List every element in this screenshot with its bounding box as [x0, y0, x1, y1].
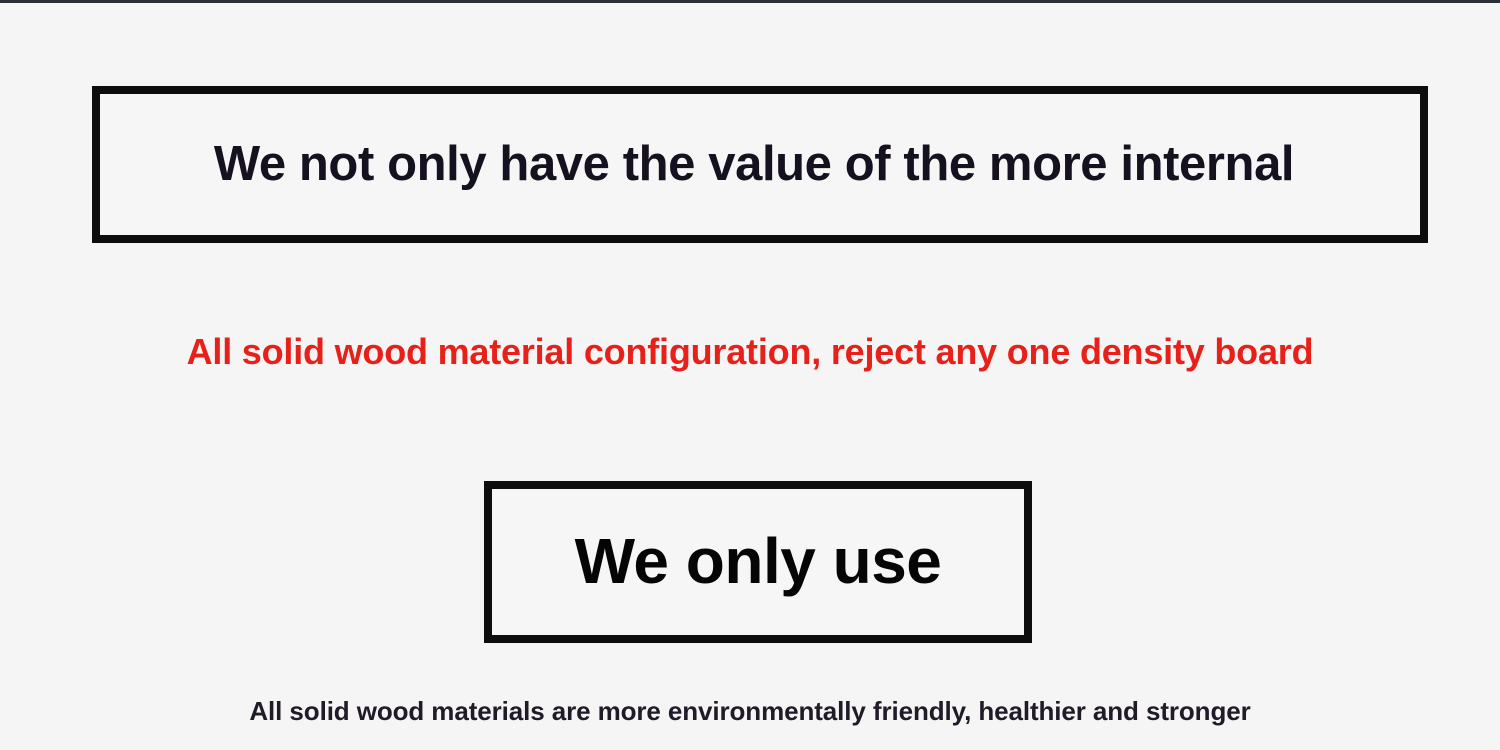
headline-text: We not only have the value of the more i…	[214, 139, 1294, 190]
subhead-box: We only use	[484, 481, 1032, 643]
top-divider-rule	[0, 0, 1500, 3]
red-emphasis-line: All solid wood material configuration, r…	[0, 330, 1500, 373]
footer-caption: All solid wood materials are more enviro…	[0, 696, 1500, 727]
promo-banner: We not only have the value of the more i…	[0, 0, 1500, 750]
headline-box: We not only have the value of the more i…	[92, 86, 1428, 243]
subhead-text: We only use	[575, 528, 942, 595]
